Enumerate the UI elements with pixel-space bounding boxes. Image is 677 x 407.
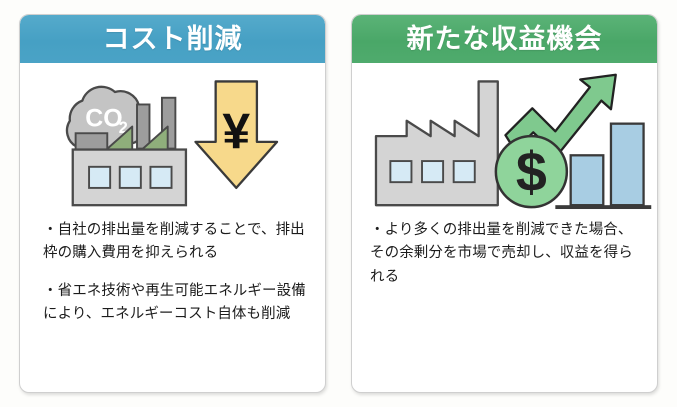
infographic-board: コスト削減 CO 2 — [0, 0, 677, 407]
card-body-cost-reduction: ・自社の排出量を削減することで、排出枠の購入費用を抑えられる ・省エネ技術や再生… — [20, 215, 325, 392]
factory-windows — [89, 167, 171, 188]
svg-text:$: $ — [516, 141, 547, 203]
bullet-item: ・より多くの排出量を削減できた場合、その余剰分を市場で売却し、収益を得られる — [366, 219, 643, 289]
card-title-new-revenue: 新たな収益機会 — [407, 26, 603, 53]
card-title-cost-reduction: コスト削減 — [103, 26, 243, 53]
card-new-revenue: 新たな収益機会 — [351, 14, 658, 393]
yen-down-arrow-icon: ¥ — [196, 81, 278, 187]
bullet-item: ・自社の排出量を削減することで、排出枠の購入費用を抑えられる — [34, 219, 311, 266]
card-body-new-revenue: ・より多くの排出量を削減できた場合、その余剰分を市場で売却し、収益を得られる — [352, 215, 657, 392]
card-header-new-revenue: 新たな収益機会 — [352, 15, 657, 63]
dollar-circle-icon: $ — [496, 136, 567, 207]
illustration-cost-reduction: CO 2 — [20, 63, 325, 215]
card-cost-reduction: コスト削減 CO 2 — [19, 14, 326, 393]
svg-text:CO: CO — [85, 105, 122, 133]
card-header-cost-reduction: コスト削減 — [20, 15, 325, 63]
svg-text:¥: ¥ — [222, 104, 250, 160]
factory-icon — [376, 81, 498, 205]
bullet-item: ・省エネ技術や再生可能エネルギー設備により、エネルギーコスト自体も削減 — [34, 280, 311, 327]
factory-windows — [390, 161, 474, 182]
illustration-new-revenue: $ — [352, 63, 657, 215]
factory-roof-box — [76, 133, 108, 150]
